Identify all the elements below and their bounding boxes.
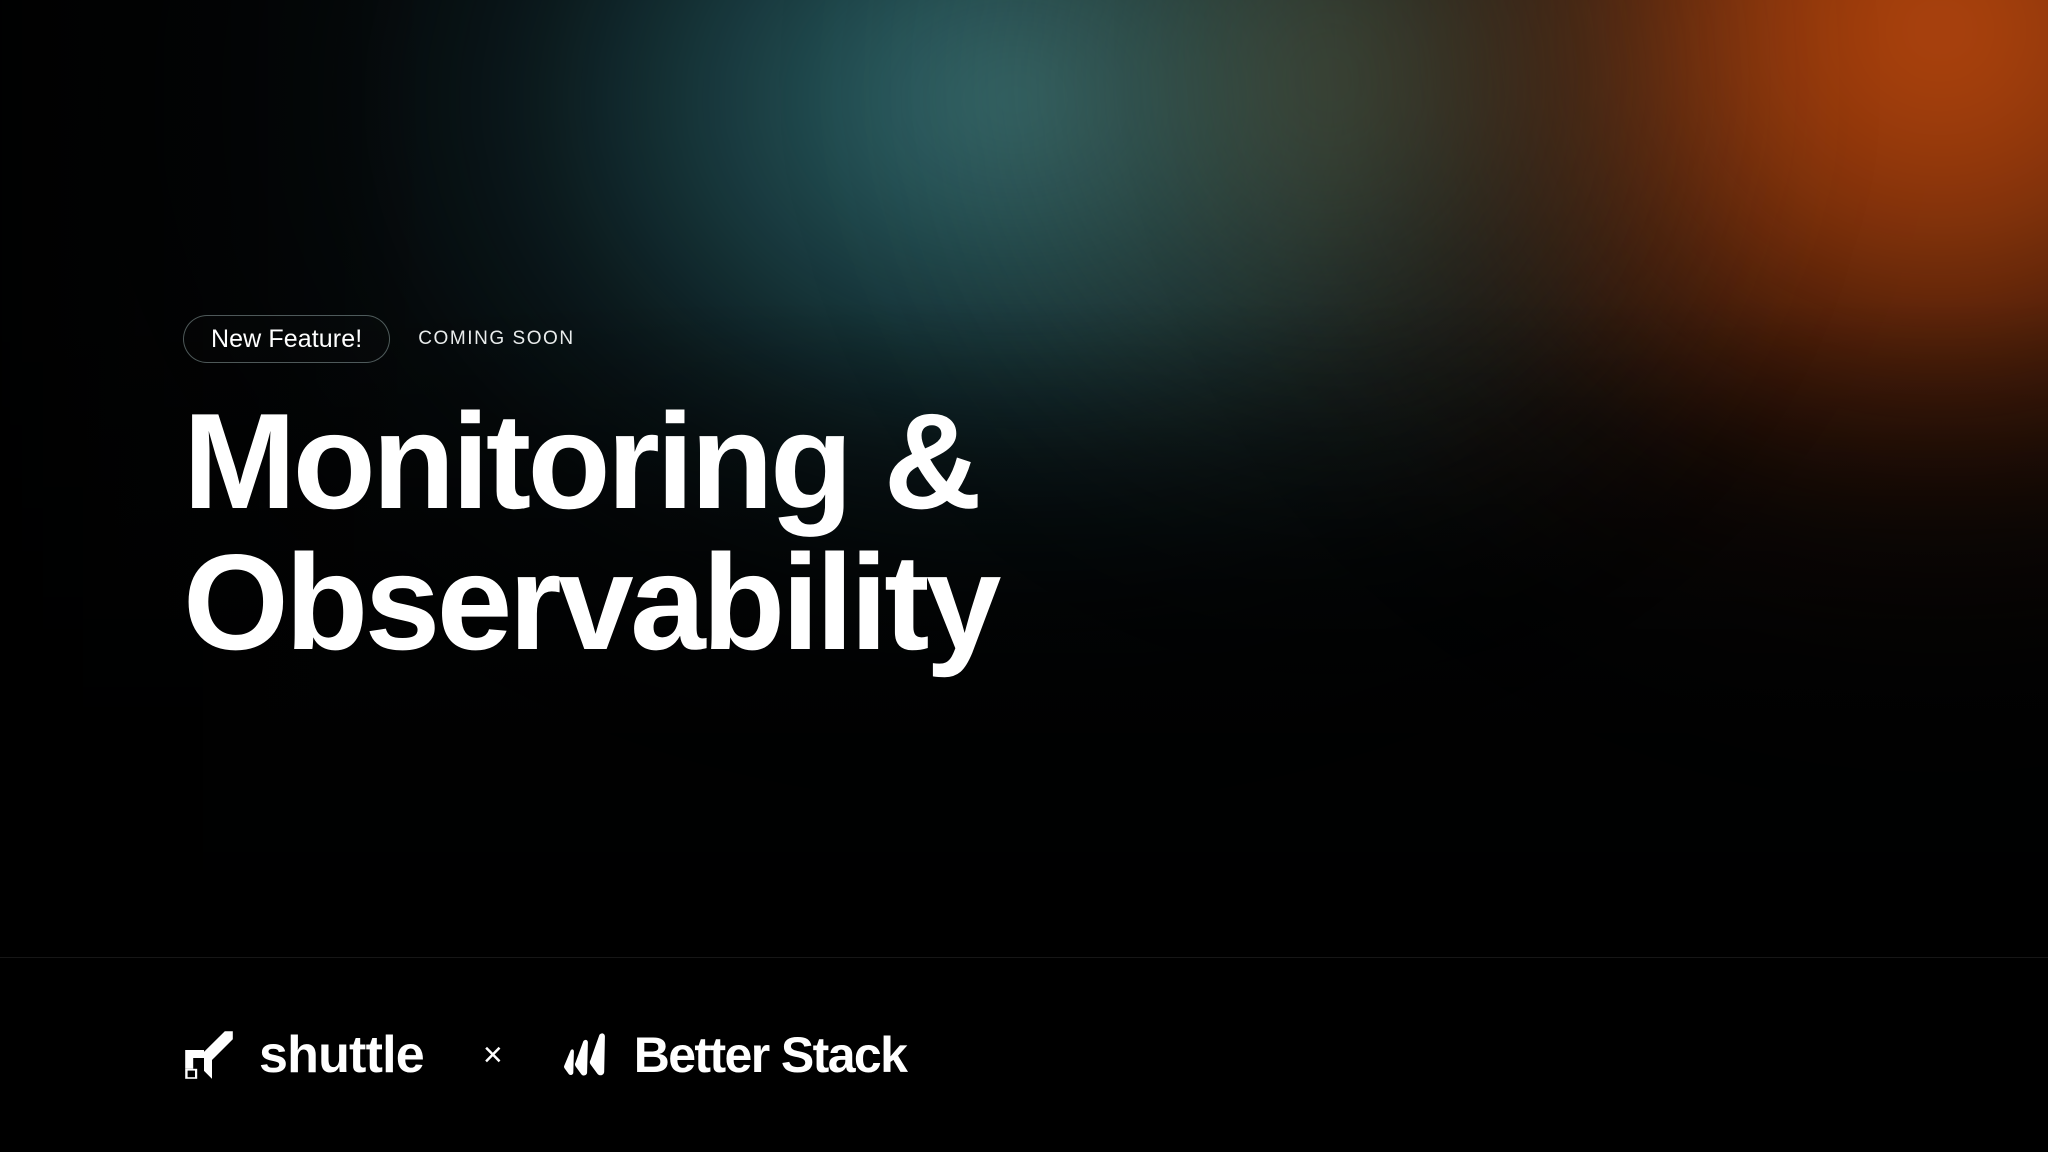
partner-footer: shuttle × Better Stack (0, 957, 2048, 1152)
headline-line-2: Observability (183, 534, 1483, 670)
new-feature-badge[interactable]: New Feature! (183, 315, 390, 363)
logo-separator-x-icon: × (483, 1038, 503, 1072)
eyebrow-row: New Feature! COMING SOON (183, 313, 1483, 365)
headline-line-1: Monitoring & (183, 393, 1483, 529)
coming-soon-label: COMING SOON (418, 328, 574, 350)
page-title: Monitoring & Observability (183, 393, 1483, 670)
better-stack-logo[interactable]: Better Stack (562, 1030, 907, 1080)
hero-section: New Feature! COMING SOON Monitoring & Ob… (0, 0, 2048, 957)
shuttle-wordmark: shuttle (259, 1029, 424, 1081)
shuttle-rocket-icon (183, 1029, 235, 1081)
shuttle-logo[interactable]: shuttle (183, 1029, 424, 1081)
footer-logo-lockups: shuttle × Better Stack (183, 1029, 906, 1081)
better-stack-bars-icon (562, 1033, 612, 1077)
hero-content: New Feature! COMING SOON Monitoring & Ob… (183, 313, 1483, 670)
better-stack-wordmark: Better Stack (634, 1030, 907, 1080)
landing-page: New Feature! COMING SOON Monitoring & Ob… (0, 0, 2048, 1152)
